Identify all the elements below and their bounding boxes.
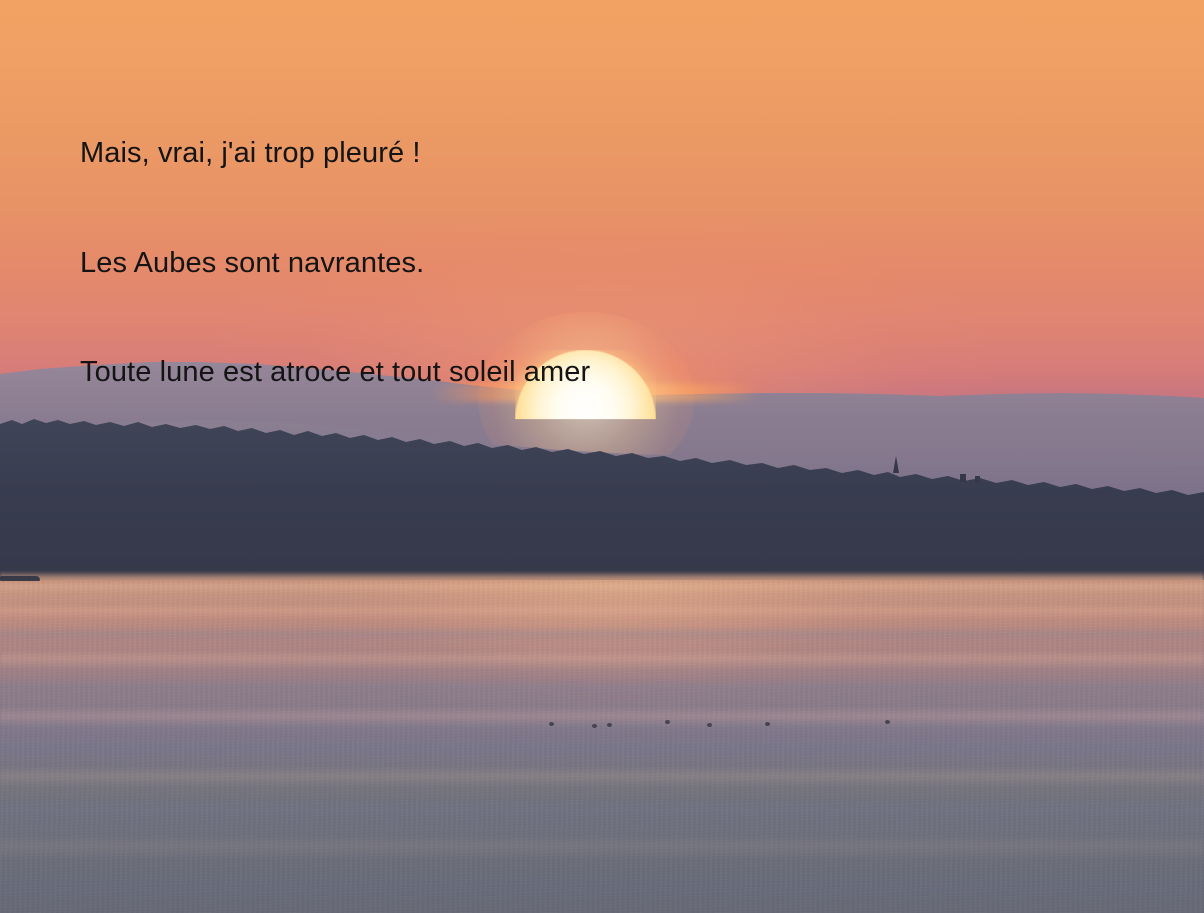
bird-on-water — [592, 724, 597, 728]
water-texture — [0, 580, 1204, 913]
bird-on-water — [765, 722, 770, 726]
bird-on-water — [607, 723, 612, 727]
bird-on-water — [885, 720, 890, 724]
bird-on-water — [707, 723, 712, 727]
distant-boat — [0, 576, 40, 581]
sunset-photograph: Mais, vrai, j'ai trop pleuré ! Les Aubes… — [0, 0, 1204, 913]
poem-line-1: Mais, vrai, j'ai trop pleuré ! — [80, 135, 590, 172]
bird-on-water — [665, 720, 670, 724]
poem-overlay: Mais, vrai, j'ai trop pleuré ! Les Aubes… — [80, 62, 590, 464]
bird-on-water — [549, 722, 554, 726]
poem-line-3: Toute lune est atroce et tout soleil ame… — [80, 354, 590, 391]
poem-line-2: Les Aubes sont navrantes. — [80, 245, 590, 282]
